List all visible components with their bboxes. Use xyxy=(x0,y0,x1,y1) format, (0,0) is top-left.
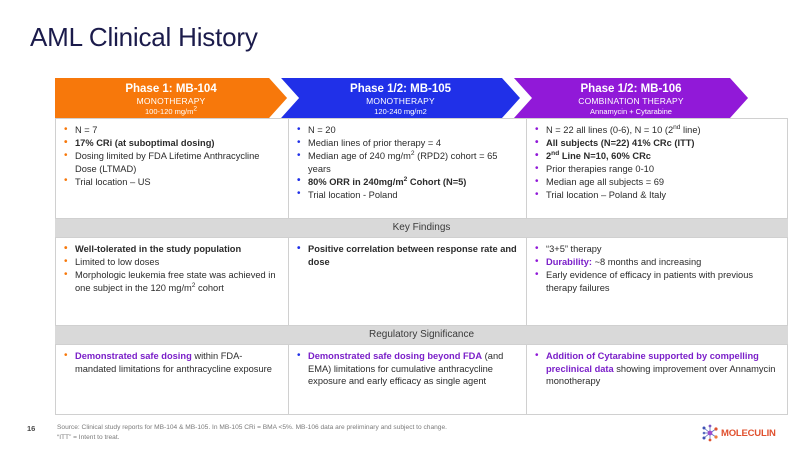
overview-cell-mb-105: N = 20 Median lines of prior therapy = 4… xyxy=(289,119,527,219)
bullet-list: Positive correlation between response ra… xyxy=(295,243,520,268)
bullet-list: Addition of Cytarabine supported by comp… xyxy=(533,350,781,388)
list-item: “3+5” therapy xyxy=(533,243,781,256)
list-item: Positive correlation between response ra… xyxy=(295,243,520,268)
list-item: Morphologic leukemia free state was achi… xyxy=(62,269,282,294)
source-note-line-2: “ITT” = Intent to treat. xyxy=(57,433,657,443)
phase-title: Phase 1/2: MB-105 xyxy=(281,82,520,96)
phase-subtitle: COMBINATION THERAPY xyxy=(514,96,748,107)
phase-title: Phase 1: MB-104 xyxy=(55,82,287,96)
list-item: N = 7 xyxy=(62,124,282,137)
bullet-list: N = 22 all lines (0-6), N = 10 (2nd line… xyxy=(533,124,781,202)
key-findings-cell-mb-106: “3+5” therapy Durability: ~8 months and … xyxy=(527,238,788,326)
list-item: Trial location – Poland & Italy xyxy=(533,189,781,202)
phase-dose: 120-240 mg/m2 xyxy=(281,107,520,117)
list-item-lead: Demonstrated safe dosing xyxy=(75,351,192,361)
table-row-band-key-findings: Key Findings xyxy=(56,219,788,238)
source-note: Source: Clinical study reports for MB-10… xyxy=(57,423,657,443)
section-band-regulatory-significance: Regulatory Significance xyxy=(56,326,788,345)
phase-subtitle: MONOTHERAPY xyxy=(55,96,287,107)
phase-title: Phase 1/2: MB-106 xyxy=(514,82,748,96)
bullet-list: “3+5” therapy Durability: ~8 months and … xyxy=(533,243,781,294)
list-item: Addition of Cytarabine supported by comp… xyxy=(533,350,781,388)
list-item: Trial location - Poland xyxy=(295,189,520,202)
bullet-list: Demonstrated safe dosing within FDA-mand… xyxy=(62,350,282,375)
phase-dose: Annamycin + Cytarabine xyxy=(514,107,748,117)
overview-cell-mb-104: N = 7 17% CRi (at suboptimal dosing) Dos… xyxy=(56,119,289,219)
list-item-rest: ~8 months and increasing xyxy=(592,257,701,267)
phase-chevron-row: Phase 1: MB-104 MONOTHERAPY 100-120 mg/m… xyxy=(55,78,748,118)
page-title: AML Clinical History xyxy=(30,22,258,53)
bullet-list: Demonstrated safe dosing beyond FDA (and… xyxy=(295,350,520,388)
list-item: Demonstrated safe dosing within FDA-mand… xyxy=(62,350,282,375)
key-findings-cell-mb-105: Positive correlation between response ra… xyxy=(289,238,527,326)
list-item: Early evidence of efficacy in patients w… xyxy=(533,269,781,294)
logo-wordmark: MOLECULIN xyxy=(721,428,776,439)
list-item: Demonstrated safe dosing beyond FDA (and… xyxy=(295,350,520,388)
key-findings-cell-mb-104: Well-tolerated in the study population L… xyxy=(56,238,289,326)
source-note-line-1: Source: Clinical study reports for MB-10… xyxy=(57,423,657,433)
list-item: Median lines of prior therapy = 4 xyxy=(295,137,520,150)
phase-dose: 100-120 mg/m2 xyxy=(55,107,287,117)
list-item: Limited to low doses xyxy=(62,256,282,269)
phase-chevron-mb-106[interactable]: Phase 1/2: MB-106 COMBINATION THERAPY An… xyxy=(514,78,748,118)
list-item: N = 22 all lines (0-6), N = 10 (2nd line… xyxy=(533,124,781,137)
list-item: All subjects (N=22) 41% CRc (ITT) xyxy=(533,137,781,150)
bullet-list: N = 20 Median lines of prior therapy = 4… xyxy=(295,124,520,202)
bullet-list: Well-tolerated in the study population L… xyxy=(62,243,282,294)
list-item: Durability: ~8 months and increasing xyxy=(533,256,781,269)
list-item: 2nd Line N=10, 60% CRc xyxy=(533,150,781,163)
regulatory-cell-mb-104: Demonstrated safe dosing within FDA-mand… xyxy=(56,345,289,415)
list-item: 17% CRi (at suboptimal dosing) xyxy=(62,137,282,150)
table-row-regulatory: Demonstrated safe dosing within FDA-mand… xyxy=(56,345,788,415)
clinical-history-table: N = 7 17% CRi (at suboptimal dosing) Dos… xyxy=(55,118,788,415)
list-item: Median age all subjects = 69 xyxy=(533,176,781,189)
list-item: Well-tolerated in the study population xyxy=(62,243,282,256)
list-item: Prior therapies range 0-10 xyxy=(533,163,781,176)
molecule-icon xyxy=(700,423,720,443)
section-band-key-findings: Key Findings xyxy=(56,219,788,238)
table-row-key-findings: Well-tolerated in the study population L… xyxy=(56,238,788,326)
phase-subtitle: MONOTHERAPY xyxy=(281,96,520,107)
overview-cell-mb-106: N = 22 all lines (0-6), N = 10 (2nd line… xyxy=(527,119,788,219)
phase-chevron-mb-105[interactable]: Phase 1/2: MB-105 MONOTHERAPY 120-240 mg… xyxy=(281,78,520,118)
table-row-band-regulatory: Regulatory Significance xyxy=(56,326,788,345)
company-logo: MOLECULIN xyxy=(700,422,776,444)
list-item: N = 20 xyxy=(295,124,520,137)
regulatory-cell-mb-106: Addition of Cytarabine supported by comp… xyxy=(527,345,788,415)
bullet-list: N = 7 17% CRi (at suboptimal dosing) Dos… xyxy=(62,124,282,188)
list-item: Median age of 240 mg/m2 (RPD2) cohort = … xyxy=(295,150,520,175)
list-item-lead: Demonstrated safe dosing beyond FDA xyxy=(308,351,482,361)
regulatory-cell-mb-105: Demonstrated safe dosing beyond FDA (and… xyxy=(289,345,527,415)
phase-chevron-mb-104[interactable]: Phase 1: MB-104 MONOTHERAPY 100-120 mg/m… xyxy=(55,78,287,118)
list-item: Trial location – US xyxy=(62,176,282,189)
list-item-lead: Durability: xyxy=(546,257,592,267)
list-item: 80% ORR in 240mg/m2 Cohort (N=5) xyxy=(295,176,520,189)
table-row-overview: N = 7 17% CRi (at suboptimal dosing) Dos… xyxy=(56,119,788,219)
list-item: Dosing limited by FDA Lifetime Anthracyc… xyxy=(62,150,282,175)
page-number: 16 xyxy=(27,424,35,433)
